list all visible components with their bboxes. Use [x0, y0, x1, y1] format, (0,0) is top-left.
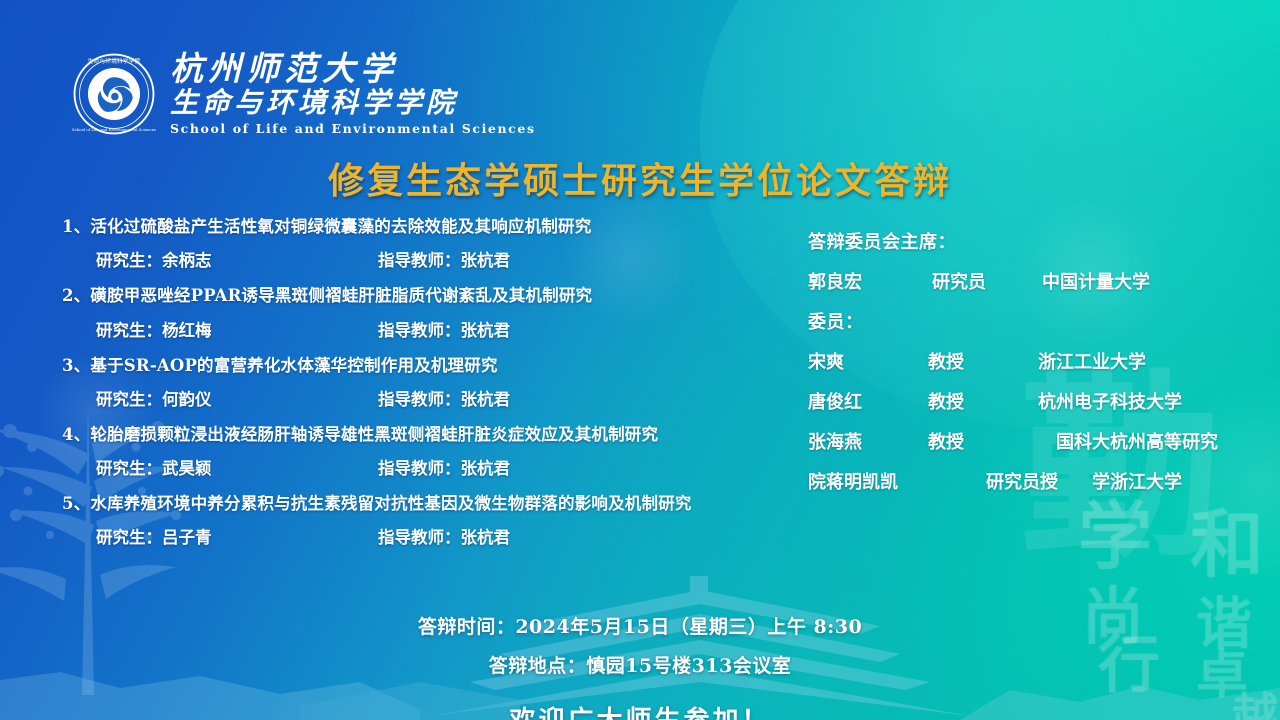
thesis-student: 研究生：杨红梅: [96, 317, 378, 341]
thesis-index: 1、: [62, 217, 90, 236]
committee-member-org: 杭州电子科技大学: [1038, 388, 1182, 414]
thesis-title-text: 轮胎磨损颗粒浸出液经肠肝轴诱导雄性黑斑侧褶蛙肝脏炎症效应及其机制研究: [90, 425, 658, 444]
school-logo: 生命与环境科学学院 School of Life and Environment…: [72, 52, 536, 136]
defense-info: 答辩时间：2024年5月15日（星期三）上午 8:30 答辩地点：慎园15号楼3…: [0, 612, 1280, 690]
logo-school-name-en: School of Life and Environmental Science…: [170, 123, 536, 136]
page-title: 修复生态学硕士研究生学位论文答辩: [0, 152, 1280, 204]
thesis-title: 1、活化过硫酸盐产生活性氧对铜绿微囊藻的去除效能及其响应机制研究: [62, 216, 802, 238]
committee-panel: 答辩委员会主席： 郭良宏 研究员 中国计量大学 委员： 宋爽 教授 浙江工业大学…: [808, 228, 1278, 508]
committee-chair-row: 郭良宏 研究员 中国计量大学: [808, 268, 1278, 294]
thesis-meta: 研究生：杨红梅 指导教师：张杭君: [96, 317, 802, 341]
thesis-title: 5、水库养殖环境中养分累积与抗生素残留对抗性基因及微生物群落的影响及机制研究: [62, 493, 802, 515]
thesis-meta: 研究生：何韵仪 指导教师：张杭君: [96, 386, 802, 410]
svg-text:生命与环境科学学院: 生命与环境科学学院: [88, 57, 141, 65]
thesis-student: 研究生：武昊颖: [96, 455, 378, 479]
committee-chair-org: 中国计量大学: [1042, 268, 1150, 294]
thesis-title-text: 基于SR-AOP的富营养化水体藻华控制作用及机理研究: [90, 356, 497, 375]
thesis-title-text: 水库养殖环境中养分累积与抗生素残留对抗性基因及微生物群落的影响及机制研究: [90, 494, 691, 513]
thesis-advisor: 指导教师：张杭君: [378, 317, 510, 341]
thesis-student: 研究生：何韵仪: [96, 386, 378, 410]
thesis-list: 1、活化过硫酸盐产生活性氧对铜绿微囊藻的去除效能及其响应机制研究 研究生：余柄志…: [62, 216, 802, 562]
logo-school-name: 生命与环境科学学院: [170, 89, 536, 117]
defense-time: 答辩时间：2024年5月15日（星期三）上午 8:30: [0, 612, 1280, 639]
committee-member-title: 教授: [928, 348, 1038, 374]
thesis-item: 1、活化过硫酸盐产生活性氧对铜绿微囊藻的去除效能及其响应机制研究 研究生：余柄志…: [62, 216, 802, 271]
committee-member-title: 教授: [928, 388, 1038, 414]
committee-member-row: 宋爽 教授 浙江工业大学: [808, 348, 1278, 374]
committee-member-name: 张海燕: [808, 428, 928, 454]
thesis-title: 4、轮胎磨损颗粒浸出液经肠肝轴诱导雄性黑斑侧褶蛙肝脏炎症效应及其机制研究: [62, 424, 802, 446]
thesis-advisor: 指导教师：张杭君: [378, 247, 510, 271]
welcome-text: 欢迎广大师生参加！: [0, 700, 1280, 720]
committee-member-org: 国科大杭州高等研究: [1038, 428, 1218, 454]
watermark-char-he: 和: [1190, 508, 1264, 582]
presentation-slide: 勤 学 和 尚 行 谐 卓 越: [0, 0, 1280, 720]
committee-member-row: 院蒋明凯凯 研究员授 学浙江大学: [808, 468, 1278, 494]
thesis-title: 3、基于SR-AOP的富营养化水体藻华控制作用及机理研究: [62, 355, 802, 377]
thesis-meta: 研究生：武昊颖 指导教师：张杭君: [96, 455, 802, 479]
thesis-item: 2、磺胺甲恶唑经PPAR诱导黑斑侧褶蛙肝脏脂质代谢紊乱及其机制研究 研究生：杨红…: [62, 285, 802, 340]
committee-member-row: 张海燕 教授 国科大杭州高等研究: [808, 428, 1278, 454]
committee-chair-name: 郭良宏: [808, 268, 932, 294]
logo-university-name: 杭州师范大学: [170, 52, 536, 85]
committee-member-name: 院蒋明凯凯: [808, 468, 986, 494]
thesis-title-text: 活化过硫酸盐产生活性氧对铜绿微囊藻的去除效能及其响应机制研究: [90, 217, 591, 236]
defense-place: 答辩地点：慎园15号楼313会议室: [0, 651, 1280, 678]
svg-text:School of Life and Environment: School of Life and Environmental Science…: [72, 127, 156, 132]
watermark-char-xue: 学: [1078, 500, 1152, 574]
thesis-student: 研究生：余柄志: [96, 247, 378, 271]
thesis-title: 2、磺胺甲恶唑经PPAR诱导黑斑侧褶蛙肝脏脂质代谢紊乱及其机制研究: [62, 285, 802, 307]
thesis-advisor: 指导教师：张杭君: [378, 524, 510, 548]
thesis-meta: 研究生：余柄志 指导教师：张杭君: [96, 247, 802, 271]
thesis-index: 3、: [62, 356, 90, 375]
committee-chair-label: 答辩委员会主席：: [808, 228, 1278, 254]
committee-member-row: 唐俊红 教授 杭州电子科技大学: [808, 388, 1278, 414]
committee-member-title: 教授: [928, 428, 1038, 454]
thesis-item: 3、基于SR-AOP的富营养化水体藻华控制作用及机理研究 研究生：何韵仪 指导教…: [62, 355, 802, 410]
committee-member-org: 浙江工业大学: [1038, 348, 1146, 374]
committee-member-name: 唐俊红: [808, 388, 928, 414]
committee-chair-title: 研究员: [932, 268, 1042, 294]
thesis-meta: 研究生：吕子青 指导教师：张杭君: [96, 524, 802, 548]
thesis-student: 研究生：吕子青: [96, 524, 378, 548]
thesis-title-text: 磺胺甲恶唑经PPAR诱导黑斑侧褶蛙肝脏脂质代谢紊乱及其机制研究: [90, 286, 592, 305]
committee-member-org: 学浙江大学: [1092, 468, 1182, 494]
thesis-index: 4、: [62, 425, 90, 444]
committee-members-label: 委员：: [808, 308, 1278, 334]
thesis-item: 4、轮胎磨损颗粒浸出液经肠肝轴诱导雄性黑斑侧褶蛙肝脏炎症效应及其机制研究 研究生…: [62, 424, 802, 479]
school-emblem-icon: 生命与环境科学学院 School of Life and Environment…: [72, 52, 156, 136]
thesis-item: 5、水库养殖环境中养分累积与抗生素残留对抗性基因及微生物群落的影响及机制研究 研…: [62, 493, 802, 548]
committee-member-title: 研究员授: [986, 468, 1092, 494]
thesis-advisor: 指导教师：张杭君: [378, 386, 510, 410]
committee-member-name: 宋爽: [808, 348, 928, 374]
thesis-index: 2、: [62, 286, 90, 305]
thesis-advisor: 指导教师：张杭君: [378, 455, 510, 479]
thesis-index: 5、: [62, 494, 90, 513]
